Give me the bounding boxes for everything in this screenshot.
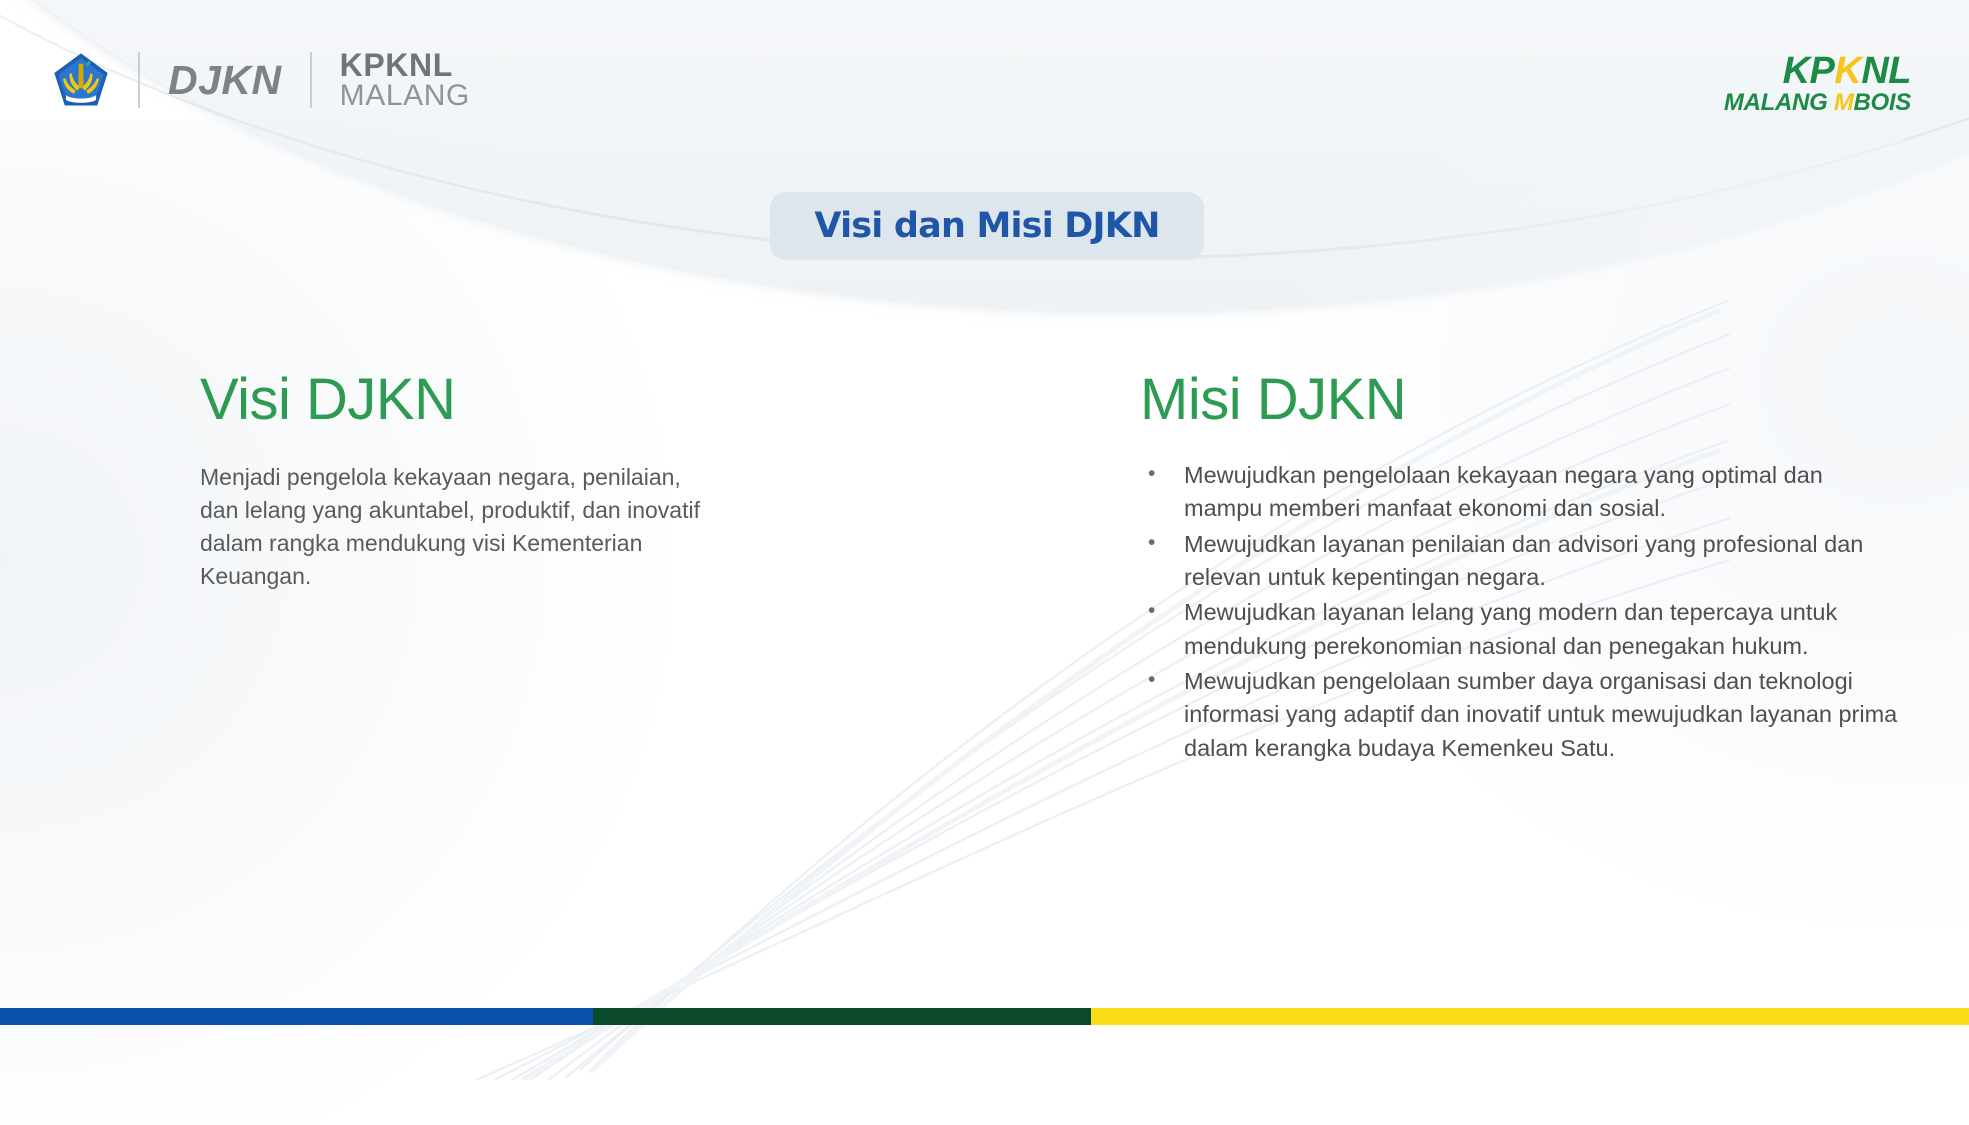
mbois-bois-text: BOIS xyxy=(1854,89,1911,116)
mbois-logo-line2: MALANG MBOIS xyxy=(1724,91,1911,115)
kpknl-malang-mbois-logo: KPKNL MALANG MBOIS xyxy=(1724,46,1911,115)
misi-list-item: Mewujudkan pengelolaan kekayaan negara y… xyxy=(1140,459,1900,526)
slide-root: DJKN KPKNL MALANG KPKNL MALANG MBOIS Vis… xyxy=(0,0,1969,1125)
mbois-m-accent: M xyxy=(1834,89,1854,116)
misi-bullet-list: Mewujudkan pengelolaan kekayaan negara y… xyxy=(1140,459,1900,765)
misi-list-item: Mewujudkan pengelolaan sumber daya organ… xyxy=(1140,665,1900,765)
visi-heading: Visi DJKN xyxy=(200,370,760,431)
unit-label-line2: MALANG xyxy=(340,81,470,111)
kpknl-malang-unit-label: KPKNL MALANG xyxy=(340,49,470,111)
misi-heading: Misi DJKN xyxy=(1140,370,1900,431)
misi-column: Misi DJKN Mewujudkan pengelolaan kekayaa… xyxy=(1140,370,1900,767)
mbois-kp-text: KP xyxy=(1783,50,1835,92)
mbois-nl-text: NL xyxy=(1861,50,1911,92)
logo-divider-1 xyxy=(138,52,140,108)
unit-label-line1: KPKNL xyxy=(340,49,470,81)
slide-title-badge: Visi dan Misi DJKN xyxy=(770,192,1204,260)
misi-list-item: Mewujudkan layanan lelang yang modern da… xyxy=(1140,596,1900,663)
slide-header: DJKN KPKNL MALANG KPKNL MALANG MBOIS xyxy=(0,0,1969,160)
accent-bar-segment-blue xyxy=(0,1008,593,1025)
accent-bar-segment-yellow xyxy=(1091,1008,1969,1025)
logo-group-left: DJKN KPKNL MALANG xyxy=(52,49,470,111)
visi-body-text: Menjadi pengelola kekayaan negara, penil… xyxy=(200,461,725,593)
mbois-logo-line1: KPKNL xyxy=(1724,52,1911,90)
background-left-wash xyxy=(0,120,700,1125)
mbois-k-accent: K xyxy=(1834,50,1861,92)
visi-column: Visi DJKN Menjadi pengelola kekayaan neg… xyxy=(200,370,760,592)
mbois-malang-text: MALANG xyxy=(1724,89,1834,116)
djkn-wordmark: DJKN xyxy=(168,60,282,101)
logo-divider-2 xyxy=(310,52,312,108)
bottom-accent-bar xyxy=(0,1008,1969,1025)
accent-bar-segment-green xyxy=(593,1008,1091,1025)
page-title: Visi dan Misi DJKN xyxy=(814,206,1159,246)
kemenkeu-emblem-icon xyxy=(52,51,110,109)
misi-list-item: Mewujudkan layanan penilaian dan advisor… xyxy=(1140,528,1900,595)
